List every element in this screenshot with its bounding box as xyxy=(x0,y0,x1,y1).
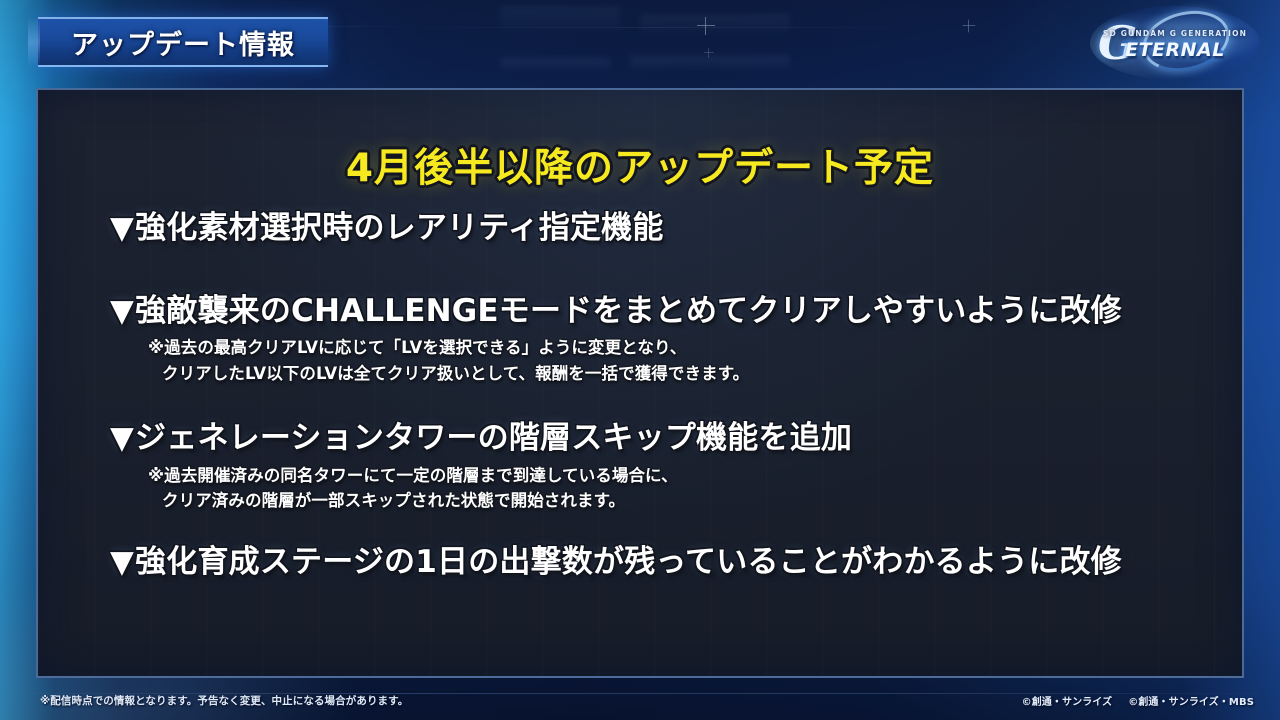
header-banner: アップデート情報 xyxy=(38,17,328,67)
bullet-heading: ▼強化素材選択時のレアリティ指定機能 xyxy=(110,210,1222,247)
game-logo: G SD GUNDAM G GENERATION ETERNAL xyxy=(1090,6,1260,80)
bullet-heading-text: 強化育成ステージの1日の出撃数が残っていることがわかるように改修 xyxy=(135,544,1122,580)
spacer xyxy=(110,514,1222,544)
copyright: ©創通・サンライズ ©創通・サンライズ・MBS xyxy=(1022,693,1254,708)
bullet-heading-text: ジェネレーションタワーの階層スキップ機能を追加 xyxy=(135,420,852,456)
bullet-marker-icon: ▼ xyxy=(110,544,134,580)
list-item: ▼強化育成ステージの1日の出撃数が残っていることがわかるように改修 xyxy=(110,544,1222,581)
bullet-note-line: クリア済みの階層が一部スキップされた状態で開始されます。 xyxy=(162,488,1222,514)
content-panel: 4月後半以降のアップデート予定 ▼強化素材選択時のレアリティ指定機能 ▼強敵襲来… xyxy=(36,88,1244,678)
bullet-heading: ▼強化育成ステージの1日の出撃数が残っていることがわかるように改修 xyxy=(110,544,1222,581)
bullet-heading-text: 強敵襲来のCHALLENGEモードをまとめてクリアしやすいように改修 xyxy=(135,293,1122,329)
list-item: ▼ジェネレーションタワーの階層スキップ機能を追加 ※過去開催済みの同名タワーにて… xyxy=(110,420,1222,514)
bullet-heading: ▼ジェネレーションタワーの階層スキップ機能を追加 xyxy=(110,420,1222,457)
copyright-line-2: ©創通・サンライズ・MBS xyxy=(1128,693,1254,708)
bullet-marker-icon: ▼ xyxy=(110,293,134,329)
copyright-line-1: ©創通・サンライズ xyxy=(1022,693,1113,708)
page-title: 4月後半以降のアップデート予定 xyxy=(38,137,1242,193)
update-list: ▼強化素材選択時のレアリティ指定機能 ▼強敵襲来のCHALLENGEモードをまと… xyxy=(110,210,1222,581)
spacer xyxy=(110,386,1222,420)
footer-disclaimer: ※配信時点での情報となります。予告なく変更、中止になる場合があります。 xyxy=(40,693,408,708)
bullet-marker-icon: ▼ xyxy=(110,420,134,456)
bullet-note: ※過去開催済みの同名タワーにて一定の階層まで到達している場合に、 クリア済みの階… xyxy=(148,463,1222,514)
bullet-note-line: クリアしたLV以下のLVは全てクリア扱いとして、報酬を一括で獲得できます。 xyxy=(162,361,1222,387)
bullet-note-line: ※過去の最高クリアLVに応じて「LVを選択できる」ように変更となり、 xyxy=(148,335,1222,361)
bullet-heading: ▼強敵襲来のCHALLENGEモードをまとめてクリアしやすいように改修 xyxy=(110,293,1222,330)
logo-title: ETERNAL xyxy=(1125,39,1225,61)
header-banner-label: アップデート情報 xyxy=(71,23,295,62)
bullet-note-line: ※過去開催済みの同名タワーにて一定の階層まで到達している場合に、 xyxy=(148,463,1222,489)
bullet-marker-icon: ▼ xyxy=(110,210,134,246)
spacer xyxy=(110,247,1222,293)
list-item: ▼強化素材選択時のレアリティ指定機能 xyxy=(110,210,1222,247)
bullet-note: ※過去の最高クリアLVに応じて「LVを選択できる」ように変更となり、 クリアした… xyxy=(148,335,1222,386)
logo-subtitle: SD GUNDAM G GENERATION xyxy=(1103,29,1247,38)
list-item: ▼強敵襲来のCHALLENGEモードをまとめてクリアしやすいように改修 ※過去の… xyxy=(110,293,1222,387)
bullet-heading-text: 強化素材選択時のレアリティ指定機能 xyxy=(135,210,664,246)
